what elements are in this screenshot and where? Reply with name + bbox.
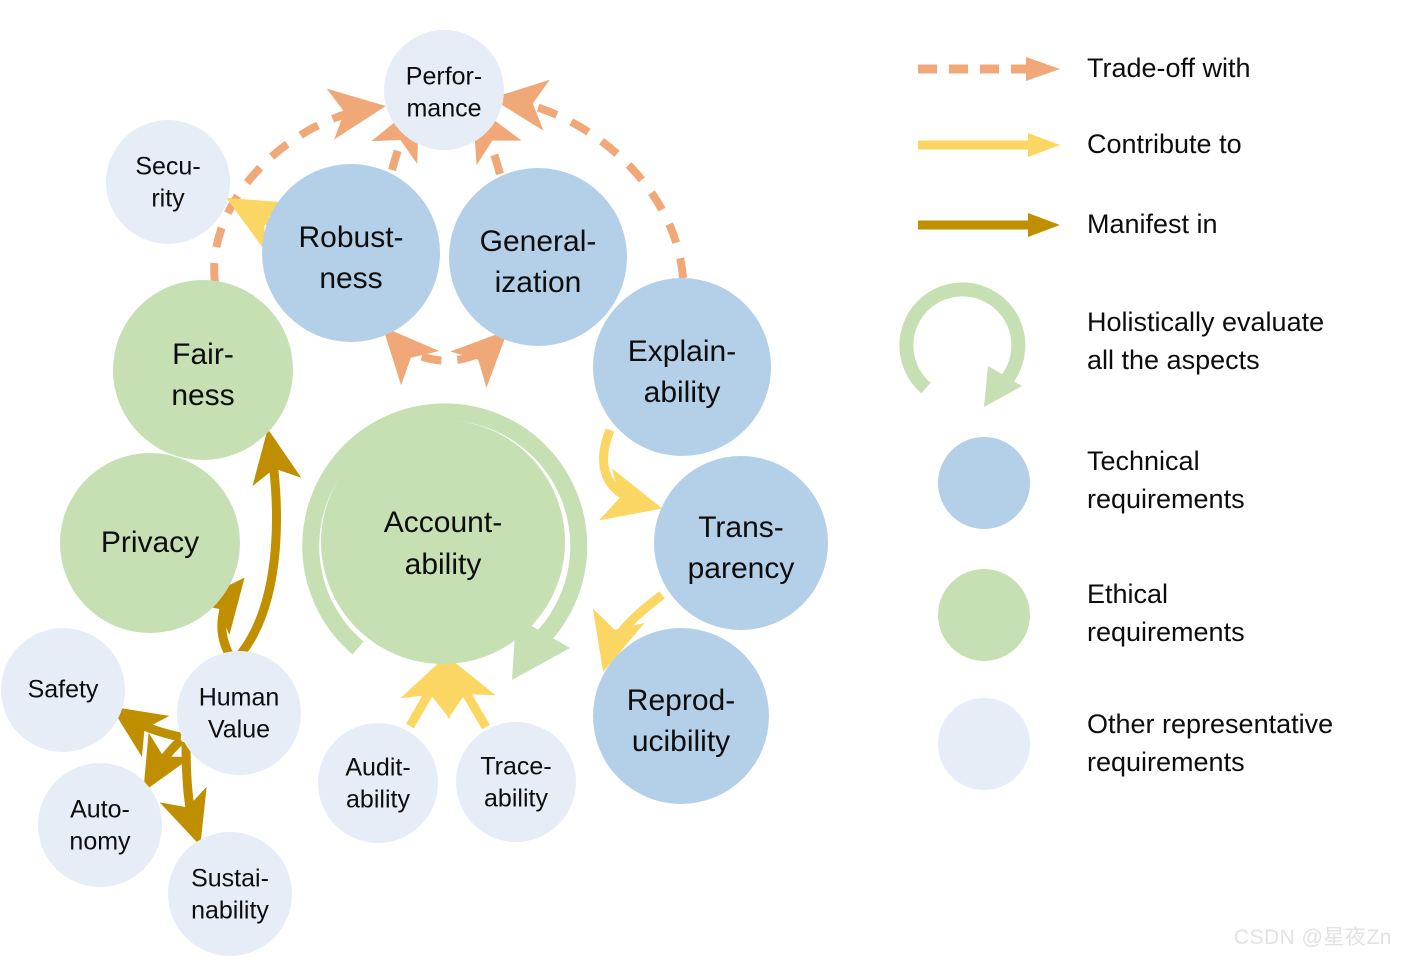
node-reproducibility-line-0: Reprod- [627,684,735,717]
trustworthy-ai-requirements-diagram: Perfor- mance Secu- rity Robust- ness Ge… [0,0,1410,967]
node-fairness-line-1: ness [171,379,234,412]
edge-traceability-accountability [452,668,486,727]
node-autonomy[interactable]: Auto- nomy [38,763,162,887]
legend-label-ethical-line-1: requirements [1087,617,1245,647]
legend-label-other-line-1: requirements [1087,747,1245,777]
edge-robustness-generalization [392,337,498,361]
node-accountability-line-1: ability [405,548,482,581]
node-privacy-line-0: Privacy [101,526,199,559]
edge-humanvalue-safety [122,714,181,737]
node-generalization-line-0: General- [480,225,597,258]
node-sustainability-line-1: nability [191,897,269,925]
edge-auditability-accountability [410,668,442,726]
solid-arrow-icon [918,133,1060,157]
legend-item-other[interactable]: Other representative requirements [938,698,1333,790]
legend-label-holistic-line-1: all the aspects [1087,345,1260,375]
legend-label-holistic-line-0: Holistically evaluate [1087,307,1324,337]
legend: Trade-off with Contribute to Manifest in [906,53,1333,790]
node-explainability[interactable]: Explain- ability [593,278,771,456]
node-sustainability[interactable]: Sustai- nability [168,832,292,956]
nodes-layer: Perfor- mance Secu- rity Robust- ness Ge… [1,30,828,956]
node-traceability[interactable]: Trace- ability [456,722,576,842]
node-generalization-line-1: ization [495,266,582,299]
node-performance-line-0: Perfor- [406,63,482,91]
node-traceability-line-0: Trace- [480,753,551,781]
green-circle-icon [938,569,1030,661]
node-human-value-line-0: Human [199,684,280,712]
node-human-value-line-1: Value [208,716,270,744]
legend-label-trade-off: Trade-off with [1087,53,1251,83]
node-autonomy-line-1: nomy [69,828,131,856]
node-explainability-line-0: Explain- [628,335,736,368]
node-fairness-line-0: Fair- [172,338,234,371]
legend-item-contribute[interactable]: Contribute to [918,129,1242,159]
edge-humanvalue-fairness [240,442,277,655]
node-performance[interactable]: Perfor- mance [384,30,504,150]
node-transparency[interactable]: Trans- parency [654,456,828,630]
legend-label-contribute: Contribute to [1087,129,1242,159]
node-accountability[interactable]: Account- ability [321,420,565,664]
node-performance-line-1: mance [406,95,481,123]
node-generalization[interactable]: General- ization [449,168,627,346]
node-autonomy-line-0: Auto- [70,796,130,824]
watermark: CSDN @星夜Zn [1234,921,1392,951]
legend-label-ethical-line-0: Ethical [1087,579,1168,609]
node-explainability-line-1: ability [644,376,721,409]
node-accountability-line-0: Account- [384,506,502,539]
bold-arrow-icon [918,213,1060,237]
dashed-arrow-icon [918,57,1060,81]
node-transparency-line-0: Trans- [698,511,784,544]
node-traceability-line-1: ability [484,785,548,813]
legend-item-trade-off[interactable]: Trade-off with [918,53,1251,83]
node-robustness-line-1: ness [319,262,382,295]
node-auditability-line-0: Audit- [345,754,410,782]
edge-humanvalue-autonomy [150,740,181,780]
node-robustness-line-0: Robust- [298,221,403,254]
node-reproducibility[interactable]: Reprod- ucibility [593,628,769,804]
node-sustainability-line-0: Sustai- [191,865,269,893]
node-security[interactable]: Secu- rity [106,120,230,244]
edge-humanvalue-privacy [222,588,236,658]
blue-circle-icon [938,437,1030,529]
node-privacy[interactable]: Privacy [60,453,240,633]
node-auditability-line-1: ability [346,786,410,814]
legend-item-holistic[interactable]: Holistically evaluate all the aspects [906,289,1324,407]
node-security-line-0: Secu- [135,153,200,181]
node-transparency-line-1: parency [688,552,795,585]
legend-label-other-line-0: Other representative [1087,709,1333,739]
node-robustness[interactable]: Robust- ness [262,164,440,342]
node-safety[interactable]: Safety [1,628,125,752]
node-auditability[interactable]: Audit- ability [318,723,438,843]
edge-robustness-security [239,205,270,222]
circular-arrow-icon [906,289,1022,407]
diagram-page: Perfor- mance Secu- rity Robust- ness Ge… [0,0,1410,967]
node-human-value[interactable]: Human Value [177,651,301,775]
node-safety-line-0: Safety [28,676,99,704]
legend-label-technical-line-1: requirements [1087,484,1245,514]
legend-item-manifest[interactable]: Manifest in [918,209,1218,239]
node-reproducibility-line-1: ucibility [632,725,730,758]
node-security-line-1: rity [151,185,185,213]
legend-item-ethical[interactable]: Ethical requirements [938,569,1245,661]
node-fairness[interactable]: Fair- ness [113,280,293,460]
legend-label-manifest: Manifest in [1087,209,1218,239]
legend-item-technical[interactable]: Technical requirements [938,437,1245,529]
pale-circle-icon [938,698,1030,790]
legend-label-technical-line-0: Technical [1087,446,1200,476]
